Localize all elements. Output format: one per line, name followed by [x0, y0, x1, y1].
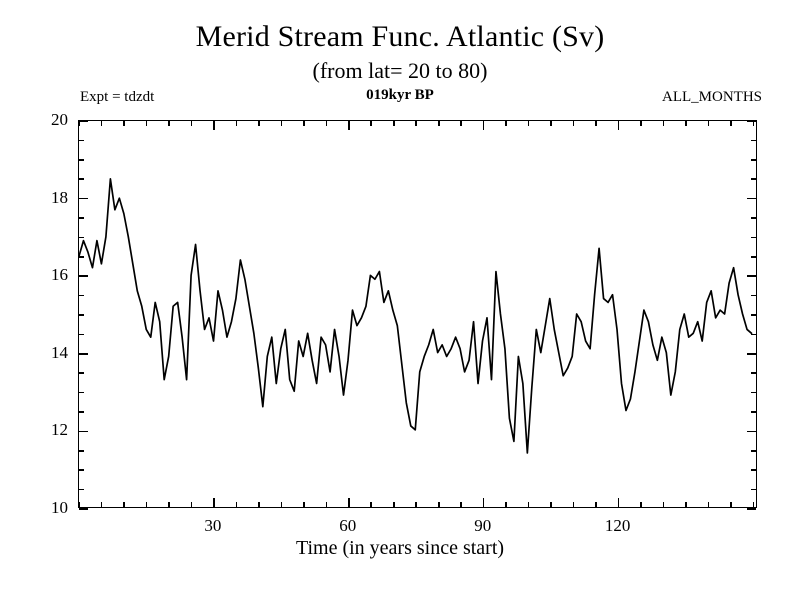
y-tick-minor: [79, 314, 84, 316]
x-tick-minor: [191, 502, 193, 507]
x-tick-minor: [460, 502, 462, 507]
x-tick-minor: [258, 502, 260, 507]
x-tick-minor: [505, 502, 507, 507]
figure-canvas: Merid Stream Func. Atlantic (Sv) (from l…: [0, 0, 800, 600]
x-tick-minor-top: [663, 121, 665, 126]
x-tick-minor: [168, 502, 170, 507]
x-tick-minor: [438, 502, 440, 507]
x-tick-major-top: [348, 121, 350, 130]
x-tick-minor-top: [303, 121, 305, 126]
x-tick-minor-top: [730, 121, 732, 126]
x-tick-major: [483, 498, 485, 507]
x-tick-minor-top: [505, 121, 507, 126]
y-tick-minor-right: [751, 411, 756, 413]
y-tick-label: 16: [8, 266, 68, 283]
y-tick-major: [79, 275, 88, 277]
y-tick-major-right: [747, 120, 756, 122]
y-tick-minor-right: [751, 237, 756, 239]
y-tick-major: [79, 120, 88, 122]
y-tick-minor-right: [751, 450, 756, 452]
x-tick-minor: [326, 502, 328, 507]
x-tick-minor: [573, 502, 575, 507]
x-tick-minor-top: [753, 121, 755, 126]
x-tick-minor-top: [101, 121, 103, 126]
page-title: Merid Stream Func. Atlantic (Sv): [0, 20, 800, 54]
y-tick-major-right: [747, 353, 756, 355]
x-tick-minor-top: [326, 121, 328, 126]
y-tick-label: 10: [8, 499, 68, 516]
x-tick-minor: [550, 502, 552, 507]
x-tick-minor: [663, 502, 665, 507]
x-tick-minor-top: [438, 121, 440, 126]
x-tick-minor: [78, 502, 80, 507]
x-tick-label: 60: [318, 517, 378, 534]
x-tick-minor: [101, 502, 103, 507]
x-tick-minor-top: [168, 121, 170, 126]
y-tick-minor: [79, 411, 84, 413]
y-tick-minor: [79, 256, 84, 258]
y-tick-minor-right: [751, 217, 756, 219]
y-tick-minor: [79, 372, 84, 374]
x-tick-minor-top: [236, 121, 238, 126]
y-tick-label: 20: [8, 111, 68, 128]
x-tick-minor-top: [640, 121, 642, 126]
x-tick-minor-top: [393, 121, 395, 126]
x-tick-minor-top: [685, 121, 687, 126]
x-tick-minor-top: [550, 121, 552, 126]
x-tick-label: 30: [183, 517, 243, 534]
y-tick-minor: [79, 178, 84, 180]
x-tick-minor-top: [573, 121, 575, 126]
page-subtitle: (from lat= 20 to 80): [0, 58, 800, 84]
y-tick-minor: [79, 489, 84, 491]
x-tick-minor: [753, 502, 755, 507]
y-tick-minor: [79, 140, 84, 142]
x-tick-minor-top: [708, 121, 710, 126]
x-tick-minor: [393, 502, 395, 507]
x-tick-major-top: [618, 121, 620, 130]
y-tick-minor-right: [751, 469, 756, 471]
x-tick-minor-top: [146, 121, 148, 126]
x-tick-minor-top: [528, 121, 530, 126]
x-tick-label: 90: [453, 517, 513, 534]
y-tick-major: [79, 353, 88, 355]
x-tick-major: [213, 498, 215, 507]
y-tick-major-right: [747, 431, 756, 433]
y-tick-minor-right: [751, 372, 756, 374]
y-tick-minor-right: [751, 314, 756, 316]
x-tick-minor: [146, 502, 148, 507]
plot-area: [78, 120, 757, 508]
x-tick-minor: [415, 502, 417, 507]
y-tick-label: 12: [8, 421, 68, 438]
x-tick-minor: [640, 502, 642, 507]
y-tick-minor: [79, 334, 84, 336]
y-tick-minor-right: [751, 140, 756, 142]
y-tick-label: 18: [8, 189, 68, 206]
y-tick-minor-right: [751, 295, 756, 297]
y-tick-minor: [79, 469, 84, 471]
x-tick-minor: [123, 502, 125, 507]
x-tick-minor-top: [78, 121, 80, 126]
y-tick-major: [79, 198, 88, 200]
y-tick-minor: [79, 159, 84, 161]
x-tick-major-top: [213, 121, 215, 130]
x-tick-minor-top: [415, 121, 417, 126]
y-tick-minor-right: [751, 159, 756, 161]
x-tick-minor-top: [258, 121, 260, 126]
x-tick-minor: [236, 502, 238, 507]
x-tick-minor: [685, 502, 687, 507]
y-tick-minor: [79, 217, 84, 219]
x-tick-minor-top: [595, 121, 597, 126]
y-tick-minor-right: [751, 178, 756, 180]
annotation-months: ALL_MONTHS: [662, 88, 762, 106]
y-tick-minor: [79, 392, 84, 394]
y-tick-minor-right: [751, 392, 756, 394]
x-tick-major: [348, 498, 350, 507]
x-tick-minor-top: [123, 121, 125, 126]
x-tick-minor-top: [460, 121, 462, 126]
x-tick-minor-top: [370, 121, 372, 126]
y-tick-major: [79, 431, 88, 433]
y-tick-label: 14: [8, 344, 68, 361]
y-tick-minor: [79, 450, 84, 452]
x-tick-minor-top: [281, 121, 283, 126]
x-tick-minor: [730, 502, 732, 507]
y-tick-minor-right: [751, 334, 756, 336]
series-line: [79, 179, 752, 453]
y-tick-minor-right: [751, 489, 756, 491]
y-tick-minor: [79, 237, 84, 239]
y-tick-minor-right: [751, 256, 756, 258]
x-tick-minor: [595, 502, 597, 507]
x-tick-minor: [281, 502, 283, 507]
x-tick-minor: [528, 502, 530, 507]
x-tick-label: 120: [588, 517, 648, 534]
x-tick-minor: [708, 502, 710, 507]
timeseries-line-chart: [79, 121, 756, 507]
x-tick-major: [618, 498, 620, 507]
x-tick-minor: [303, 502, 305, 507]
y-tick-minor: [79, 295, 84, 297]
y-tick-major-right: [747, 508, 756, 510]
y-tick-major-right: [747, 275, 756, 277]
y-tick-major: [79, 508, 88, 510]
x-axis-title: Time (in years since start): [0, 536, 800, 560]
x-tick-minor-top: [191, 121, 193, 126]
y-tick-major-right: [747, 198, 756, 200]
x-tick-minor: [370, 502, 372, 507]
x-tick-major-top: [483, 121, 485, 130]
